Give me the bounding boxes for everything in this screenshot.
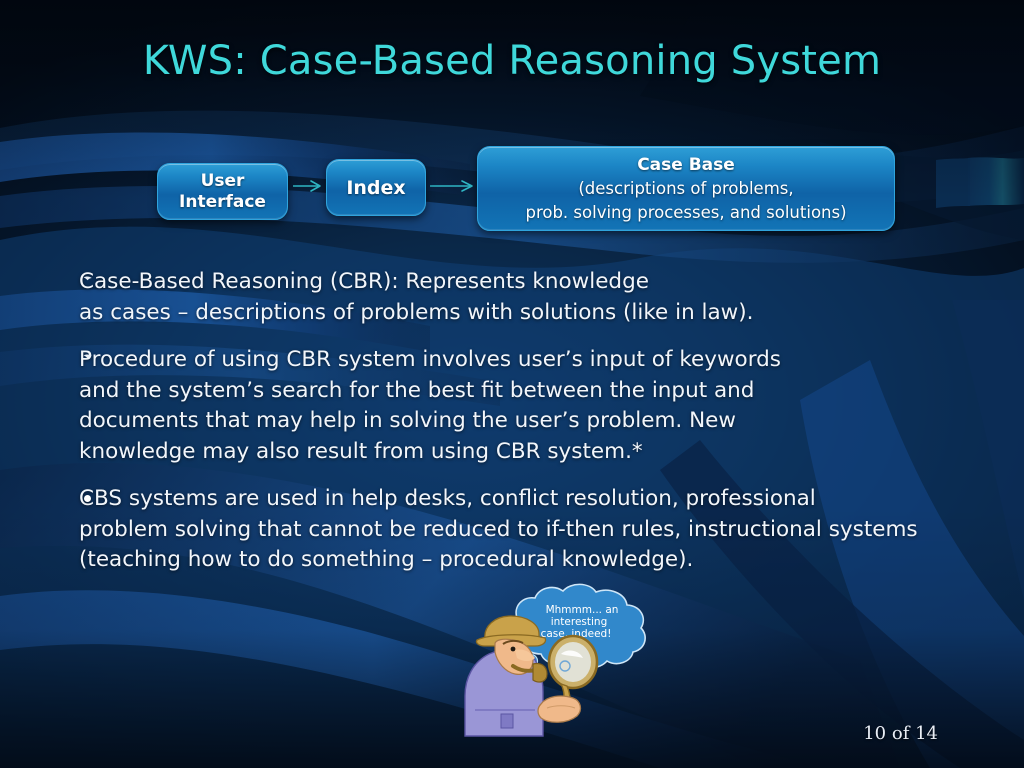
detective-clipart: Mhmmm... an interesting case, indeed!	[455, 578, 685, 738]
diagram-node-user-interface[interactable]: User Interface	[157, 163, 288, 220]
bullet-line: documents that may help in solving the u…	[79, 406, 979, 437]
slide-title: KWS: Case-Based Reasoning System	[0, 38, 1024, 84]
node-label-line2: Interface	[179, 192, 266, 213]
bullet-line: CBS systems are used in help desks, conf…	[79, 484, 979, 515]
detective-eye	[511, 647, 516, 652]
node-label-sub1: (descriptions of problems,	[578, 177, 793, 201]
node-label-line1: User	[201, 171, 245, 192]
node-label-sub2: prob. solving processes, and solutions)	[525, 201, 846, 225]
bullet-dot-icon	[84, 495, 91, 502]
slide-number: 10 of 14	[863, 723, 938, 744]
pointing-hand-icon	[82, 351, 98, 367]
diagram-node-case-base[interactable]: Case Base (descriptions of problems, pro…	[477, 146, 895, 231]
bullet-line: and the system’s search for the best fit…	[79, 376, 979, 407]
bullet-line: knowledge may also result from using CBR…	[79, 437, 979, 468]
detective-hand	[538, 696, 580, 722]
node-label-line1: Index	[346, 177, 405, 199]
node-label-title: Case Base	[637, 153, 735, 177]
bullet-paragraph-3: CBS systems are used in help desks, conf…	[79, 484, 979, 576]
slide-canvas: KWS: Case-Based Reasoning System User In…	[0, 0, 1024, 768]
bullet-line: Case-Based Reasoning (CBR): Represents k…	[79, 267, 979, 298]
bullet-paragraph-2: Procedure of using CBR system involves u…	[79, 345, 979, 467]
thought-text-line1: Mhmmm... an	[546, 604, 619, 616]
coat-pocket	[501, 714, 513, 728]
bullet-line: as cases – descriptions of problems with…	[79, 298, 979, 329]
thought-text-line2: interesting	[551, 616, 608, 628]
bullet-line: Procedure of using CBR system involves u…	[79, 345, 979, 376]
pointing-hand-icon	[82, 273, 98, 289]
magnifier-lens	[555, 642, 591, 682]
bullet-line: problem solving that cannot be reduced t…	[79, 515, 979, 546]
pipe-bowl	[533, 663, 547, 682]
diagram-node-index[interactable]: Index	[326, 159, 426, 216]
bullet-paragraph-1: Case-Based Reasoning (CBR): Represents k…	[79, 267, 979, 328]
bullet-line: (teaching how to do something – procedur…	[79, 545, 979, 576]
slide-body: Case-Based Reasoning (CBR): Represents k…	[79, 267, 979, 593]
